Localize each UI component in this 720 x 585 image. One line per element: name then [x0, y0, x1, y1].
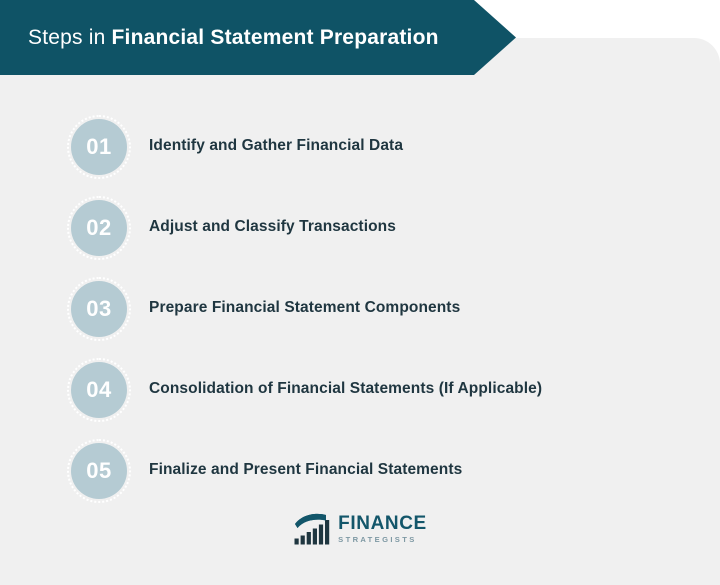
steps-list: 01 Identify and Gather Financial Data 02…	[0, 106, 720, 511]
step-number: 05	[86, 460, 111, 482]
logo-primary-text: FINANCE	[338, 514, 427, 533]
page-title: Steps in Financial Statement Preparation	[0, 27, 439, 48]
step-badge: 02	[67, 196, 131, 260]
step-badge: 01	[67, 115, 131, 179]
step-item: 02 Adjust and Classify Transactions	[0, 187, 720, 268]
step-number: 02	[86, 217, 111, 239]
footer-logo: FINANCE STRATEGISTS	[0, 512, 720, 545]
step-number: 03	[86, 298, 111, 320]
infographic-root: Steps in Financial Statement Preparation…	[0, 0, 720, 585]
step-item: 01 Identify and Gather Financial Data	[0, 106, 720, 187]
step-item: 05 Finalize and Present Financial Statem…	[0, 430, 720, 511]
step-label: Identify and Gather Financial Data	[149, 137, 403, 156]
page-title-plain: Steps in	[28, 26, 112, 49]
logo-wordmark: FINANCE STRATEGISTS	[338, 514, 427, 544]
step-label: Consolidation of Financial Statements (I…	[149, 380, 542, 399]
step-label: Adjust and Classify Transactions	[149, 218, 396, 237]
step-badge: 04	[67, 358, 131, 422]
step-label: Prepare Financial Statement Components	[149, 299, 460, 318]
page-title-emphasis: Financial Statement Preparation	[112, 26, 439, 49]
step-badge: 05	[67, 439, 131, 503]
step-item: 03 Prepare Financial Statement Component…	[0, 268, 720, 349]
step-number: 04	[86, 379, 111, 401]
step-number: 01	[86, 136, 111, 158]
step-badge: 03	[67, 277, 131, 341]
logo-secondary-text: STRATEGISTS	[338, 536, 427, 544]
logo-lockup: FINANCE STRATEGISTS	[293, 512, 427, 545]
finance-strategists-logo-icon	[293, 512, 331, 545]
step-item: 04 Consolidation of Financial Statements…	[0, 349, 720, 430]
step-label: Finalize and Present Financial Statement…	[149, 461, 462, 480]
header-banner: Steps in Financial Statement Preparation	[0, 0, 516, 75]
